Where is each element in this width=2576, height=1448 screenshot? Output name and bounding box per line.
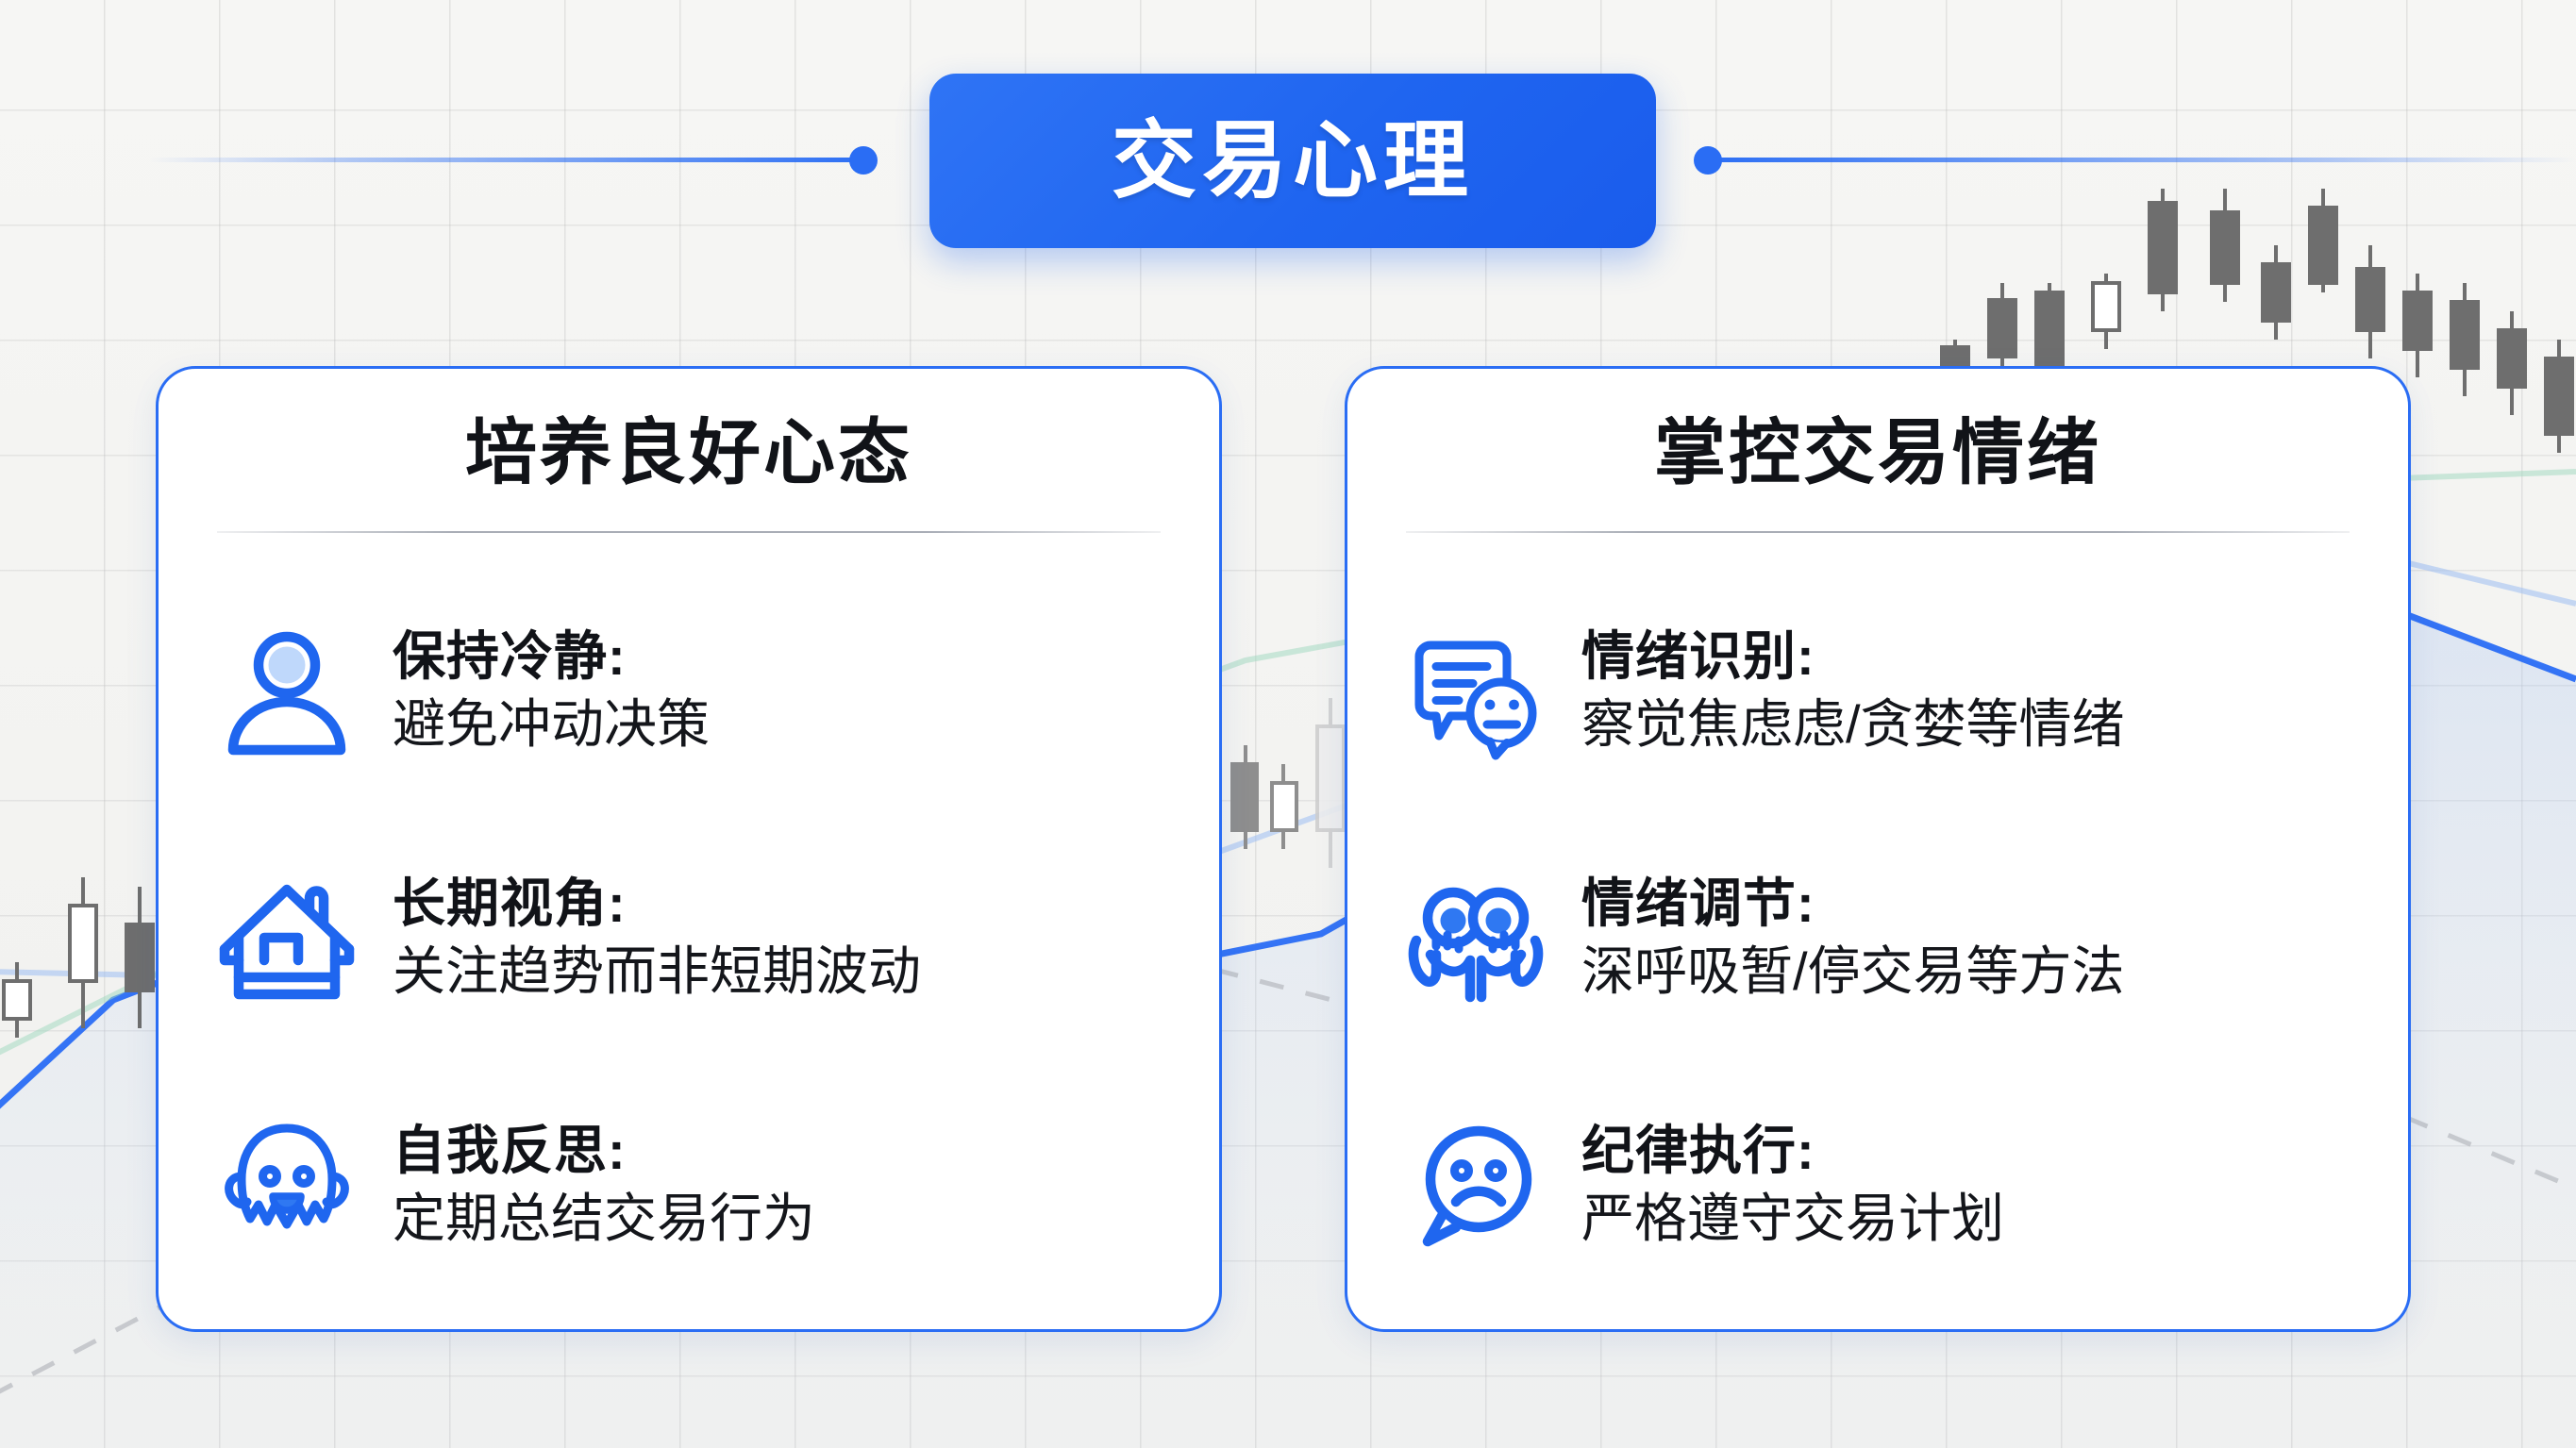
sad-face-bubble-icon <box>1397 1106 1555 1264</box>
card-items: 情绪识别: 察觉焦虑虑/贪婪等情绪 <box>1347 567 2408 1308</box>
connector-dot-left <box>849 146 878 175</box>
list-item-sub: 深呼吸暂/停交易等方法 <box>1581 940 2125 1003</box>
person-icon <box>208 611 366 770</box>
connector-line-right <box>1698 158 2576 162</box>
list-item-sub: 关注趋势而非短期波动 <box>393 940 921 1003</box>
card-items: 保持冷静: 避免冲动决策 长期视 <box>159 567 1219 1308</box>
card-divider <box>217 531 1161 533</box>
card-title: 掌控交易情绪 <box>1347 418 2408 490</box>
ghost-face-icon <box>208 1106 366 1264</box>
chat-neutral-face-icon <box>1397 611 1555 770</box>
list-item: 长期视角: 关注趋势而非短期波动 <box>159 814 1219 1061</box>
list-item-text: 情绪识别: 察觉焦虑虑/贪婪等情绪 <box>1555 625 2125 756</box>
list-item: 情绪调节: 深呼吸暂/停交易等方法 <box>1347 814 2408 1061</box>
list-item-text: 纪律执行: 严格遵守交易计划 <box>1555 1120 2004 1250</box>
list-item-head: 情绪调节: <box>1581 873 2125 935</box>
list-item-text: 保持冷静: 避免冲动决策 <box>366 625 710 756</box>
list-item-text: 长期视角: 关注趋势而非短期波动 <box>366 873 921 1003</box>
stressed-eyes-hands-icon <box>1397 858 1555 1017</box>
list-item: 自我反思: 定期总结交易行为 <box>159 1061 1219 1308</box>
connector-line-left <box>149 158 876 162</box>
connector-dot-right <box>1694 146 1722 175</box>
list-item-head: 长期视角: <box>393 873 921 935</box>
card-divider <box>1406 531 2350 533</box>
list-item-head: 情绪识别: <box>1581 625 2125 688</box>
list-item-head: 保持冷静: <box>393 625 710 688</box>
card-cultivate-mindset: 培养良好心态 保持冷静: 避免冲动决策 <box>156 366 1222 1332</box>
list-item-sub: 察觉焦虑虑/贪婪等情绪 <box>1581 693 2125 756</box>
list-item: 情绪识别: 察觉焦虑虑/贪婪等情绪 <box>1347 567 2408 814</box>
infographic-canvas: 交易心理 培养良好心态 保持冷静: 避免冲动决策 <box>0 0 2576 1448</box>
card-title: 培养良好心态 <box>159 418 1219 490</box>
card-control-emotions: 掌控交易情绪 <box>1345 366 2411 1332</box>
page-title-badge: 交易心理 <box>929 74 1656 248</box>
page-title: 交易心理 <box>1112 119 1474 204</box>
list-item-text: 情绪调节: 深呼吸暂/停交易等方法 <box>1555 873 2125 1003</box>
list-item-head: 自我反思: <box>393 1120 815 1182</box>
list-item: 保持冷静: 避免冲动决策 <box>159 567 1219 814</box>
list-item: 纪律执行: 严格遵守交易计划 <box>1347 1061 2408 1308</box>
house-icon <box>208 858 366 1017</box>
list-item-sub: 避免冲动决策 <box>393 693 710 756</box>
list-item-head: 纪律执行: <box>1581 1120 2004 1182</box>
list-item-sub: 定期总结交易行为 <box>393 1188 815 1250</box>
list-item-text: 自我反思: 定期总结交易行为 <box>366 1120 815 1250</box>
list-item-sub: 严格遵守交易计划 <box>1581 1188 2004 1250</box>
